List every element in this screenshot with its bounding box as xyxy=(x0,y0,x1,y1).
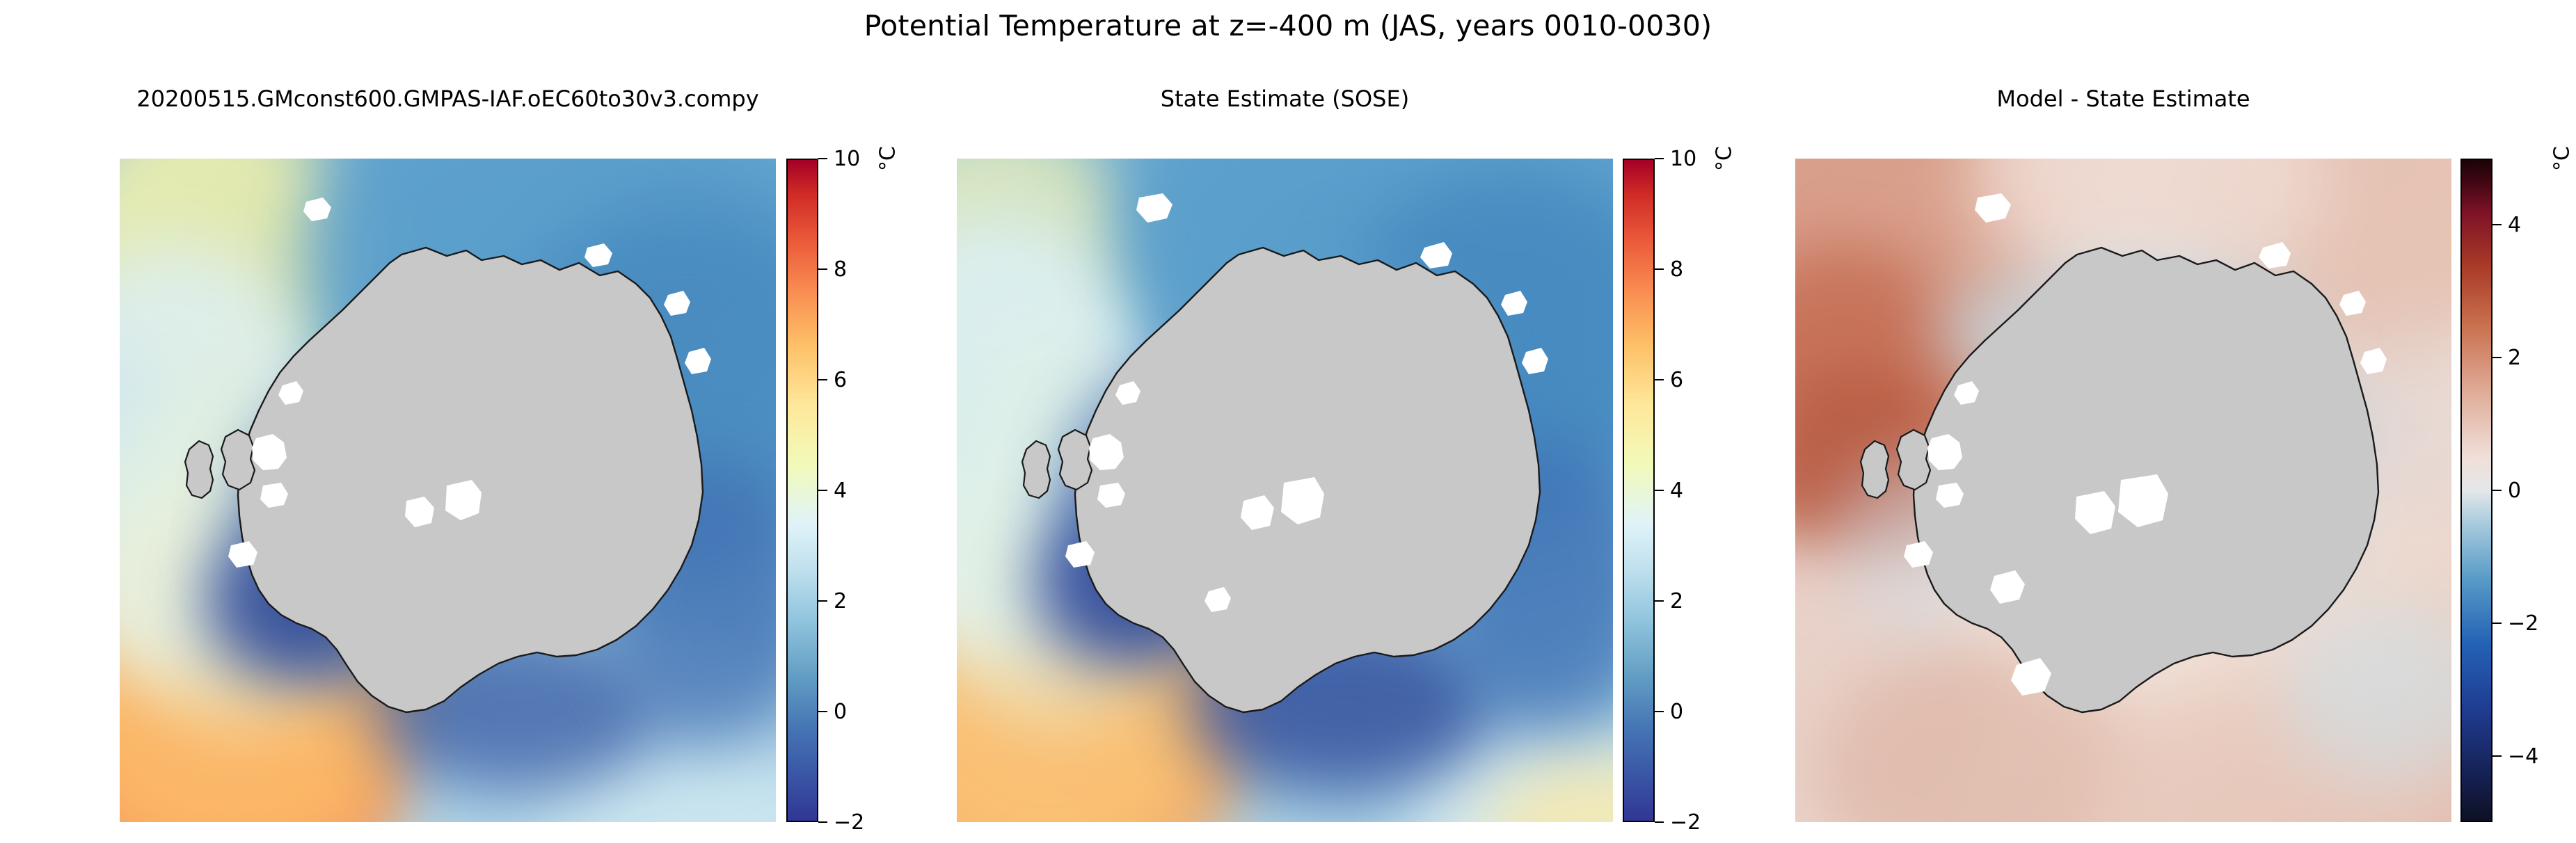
temperature-field-model xyxy=(120,159,776,822)
map-model[interactable] xyxy=(120,159,776,822)
figure-title: Potential Temperature at z=-400 m (JAS, … xyxy=(0,6,2576,46)
tick-mark xyxy=(818,268,827,271)
panel-sose-title: State Estimate (SOSE) xyxy=(957,83,1613,114)
tick-label: −2 xyxy=(834,812,864,833)
colorbar-gradient-model[interactable] xyxy=(786,159,818,822)
tick-mark xyxy=(2492,224,2502,226)
tick-label: 0 xyxy=(834,702,847,723)
tick-label: −4 xyxy=(2508,746,2538,767)
tick-label: 0 xyxy=(1670,702,1683,723)
panel-difference-title: Model - State Estimate xyxy=(1795,83,2451,114)
tick-mark xyxy=(818,600,827,602)
tick-mark xyxy=(1655,600,1664,602)
tick-label: 2 xyxy=(834,591,847,612)
colorbar-axis-label-sose: °C xyxy=(1712,146,1736,171)
tick-label: 4 xyxy=(2508,215,2521,236)
tick-mark xyxy=(1655,711,1664,713)
tick-label: 2 xyxy=(1670,591,1683,612)
difference-field xyxy=(1795,159,2451,822)
tick-label: 10 xyxy=(834,149,860,170)
tick-label: 2 xyxy=(2508,348,2521,369)
tick-label: 8 xyxy=(834,259,847,280)
tick-mark xyxy=(2492,490,2502,492)
tick-label: 4 xyxy=(834,481,847,501)
map-sose[interactable] xyxy=(957,159,1613,822)
tick-label: −2 xyxy=(2508,613,2538,634)
tick-mark xyxy=(1655,268,1664,271)
tick-mark xyxy=(2492,623,2502,625)
tick-mark xyxy=(1655,379,1664,381)
panel-model-title: 20200515.GMconst600.GMPAS-IAF.oEC60to30v… xyxy=(120,83,776,114)
tick-mark xyxy=(818,711,827,713)
tick-mark xyxy=(2492,755,2502,757)
tick-mark xyxy=(818,379,827,381)
tick-mark xyxy=(1655,490,1664,492)
tick-mark xyxy=(2492,357,2502,359)
colorbar-ticks-difference: 4 2 0 −2 −4 xyxy=(2492,159,2576,822)
temperature-field-sose xyxy=(957,159,1613,822)
tick-label: 10 xyxy=(1670,149,1696,170)
tick-label: 6 xyxy=(1670,370,1683,391)
tick-mark xyxy=(818,821,827,824)
tick-mark xyxy=(818,490,827,492)
tick-mark xyxy=(1655,821,1664,824)
colorbar-ticks-sose: 10 8 6 4 2 0 −2 xyxy=(1655,159,1738,822)
tick-label: 4 xyxy=(1670,481,1683,501)
colorbar-axis-label-model: °C xyxy=(875,146,900,171)
colorbar-ticks-model: 10 8 6 4 2 0 −2 xyxy=(818,159,902,822)
tick-mark xyxy=(818,158,827,160)
colorbar-axis-label-difference: °C xyxy=(2550,146,2574,171)
colorbar-gradient-difference[interactable] xyxy=(2460,159,2492,822)
tick-label: 0 xyxy=(2508,481,2521,501)
tick-label: 6 xyxy=(834,370,847,391)
tick-label: 8 xyxy=(1670,259,1683,280)
map-difference[interactable] xyxy=(1795,159,2451,822)
colorbar-gradient-sose[interactable] xyxy=(1623,159,1655,822)
tick-label: −2 xyxy=(1670,812,1701,833)
tick-mark xyxy=(1655,158,1664,160)
